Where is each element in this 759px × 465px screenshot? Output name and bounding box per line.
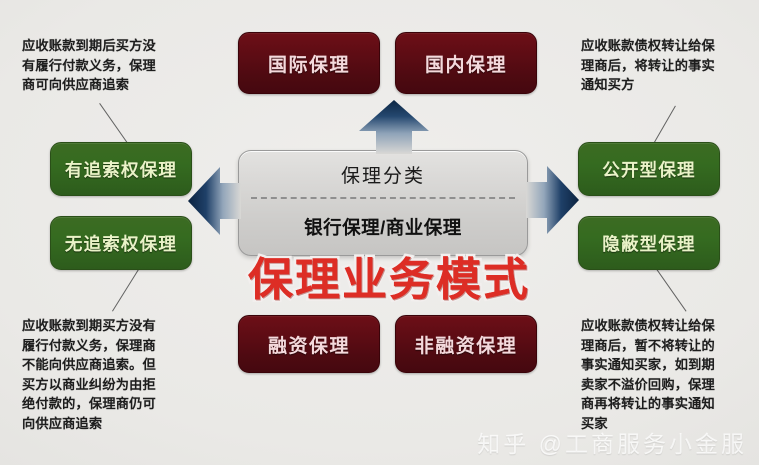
box-with-recourse-factoring[interactable]: 有追索权保理 — [50, 142, 192, 196]
arrow-up-icon — [358, 98, 430, 154]
center-panel-subheading: 银行保理/商业保理 — [239, 199, 527, 255]
box-non-financing-factoring[interactable]: 非融资保理 — [395, 315, 537, 373]
center-panel-heading: 保理分类 — [239, 151, 527, 197]
connector-top-right — [654, 106, 676, 143]
note-top-right: 应收账款债权转让给保 理商后，将转让的事实 通知买方 — [581, 36, 759, 95]
box-financing-factoring[interactable]: 融资保理 — [238, 315, 380, 373]
note-bottom-right: 应收账款债权转让给保 理商后，暂不将转让的 事实通知买家，如到期 卖家不溢价回购… — [581, 316, 759, 433]
note-bottom-left: 应收账款到期买方没有 履行付款义务，保理商 不能向供应商追索。但 买方以商业纠纷… — [22, 316, 212, 433]
connector-bottom-right — [654, 266, 686, 312]
box-domestic-factoring[interactable]: 国内保理 — [395, 32, 537, 94]
note-top-left: 应收账款到期后买方没 有履行付款义务，保理 商可向供应商追索 — [22, 36, 202, 95]
box-undisclosed-factoring[interactable]: 隐蔽型保理 — [578, 216, 720, 270]
box-disclosed-factoring[interactable]: 公开型保理 — [578, 142, 720, 196]
factoring-business-model-diagram: 应收账款到期后买方没 有履行付款义务，保理 商可向供应商追索 应收账款到期买方没… — [0, 0, 759, 465]
page-title: 保理业务模式 — [229, 254, 549, 306]
watermark: 知乎 @工商服务小金服 — [477, 425, 747, 459]
arrow-right-icon — [525, 164, 581, 236]
arrow-left-icon — [186, 166, 242, 236]
center-panel[interactable]: 保理分类 银行保理/商业保理 — [238, 150, 528, 256]
connector-bottom-left — [112, 267, 140, 312]
box-without-recourse-factoring[interactable]: 无追索权保理 — [50, 216, 192, 270]
box-international-factoring[interactable]: 国际保理 — [238, 32, 380, 94]
connector-top-left — [99, 103, 128, 145]
